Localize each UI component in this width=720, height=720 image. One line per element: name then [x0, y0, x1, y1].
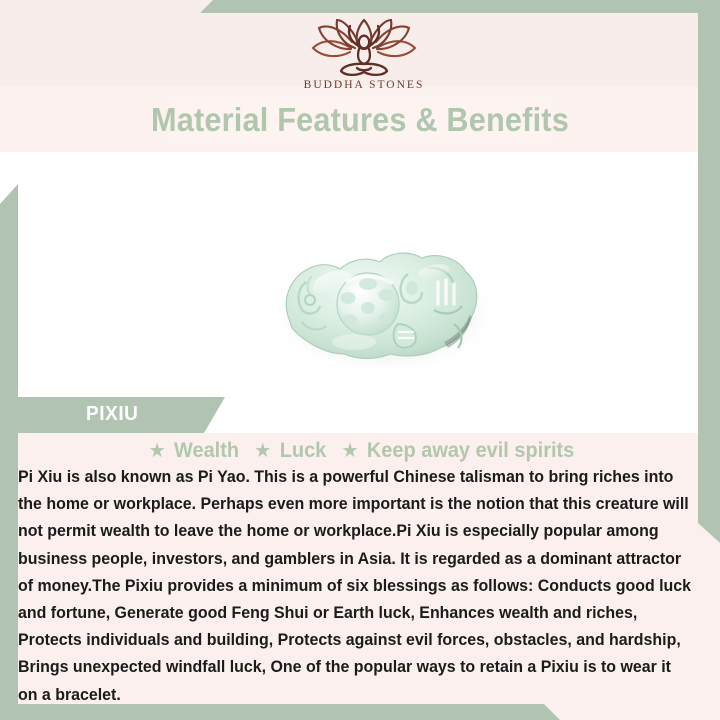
benefit-item-keep-away-evil-spirits: ★ Keep away evil spirits [339, 438, 575, 463]
star-icon: ★ [341, 438, 358, 463]
poster-root: BUDDHA STONES Material Features & Benefi… [0, 0, 720, 720]
star-icon: ★ [149, 438, 166, 463]
product-image-jade-pixiu [258, 238, 508, 383]
benefits-row: ★ Wealth★ Luck★ Keep away evil spirits [18, 438, 702, 463]
decorative-band-left [0, 184, 18, 720]
page-title: Material Features & Benefits [25, 101, 695, 139]
lotus-meditation-figure-icon [288, 18, 440, 78]
description-paragraph: Pi Xiu is also known as Pi Yao. This is … [18, 464, 692, 709]
benefit-label: Keep away evil spirits [367, 439, 574, 462]
pixiu-label-text: PIXIU [86, 403, 138, 426]
brand-logo: BUDDHA STONES [288, 18, 440, 94]
star-icon: ★ [254, 438, 271, 463]
decorative-band-right [698, 11, 720, 543]
benefit-item-wealth: ★ Wealth [146, 438, 239, 463]
benefit-label: Wealth [174, 439, 239, 462]
benefit-label: Luck [280, 439, 327, 462]
brand-name: BUDDHA STONES [288, 79, 440, 91]
benefit-item-luck: ★ Luck [251, 438, 326, 463]
